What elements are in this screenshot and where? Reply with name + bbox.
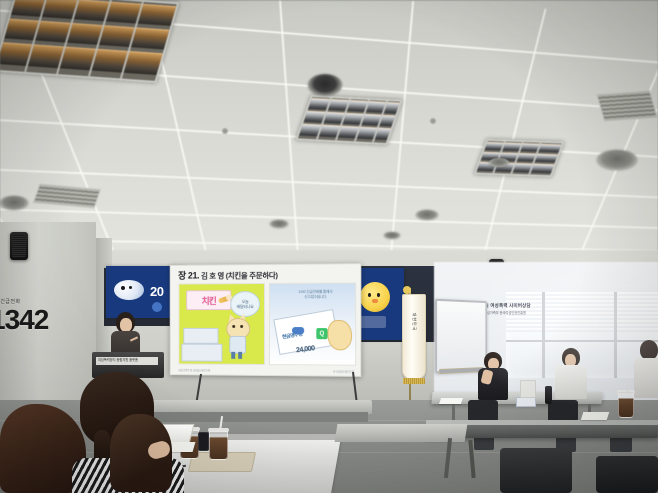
slide-title: 장 21. 김 호 영 (치킨을 주문하다) xyxy=(178,268,278,282)
slide-panel-left: 치킨 오늘배달되나요 xyxy=(178,283,265,365)
slide-caption: 1342 긴급전화를 통해서신고접수됩니다 xyxy=(284,290,347,300)
counter-shape xyxy=(181,344,222,362)
sign-number: 1342 xyxy=(0,306,48,334)
attendee-foreground-right xyxy=(110,414,180,493)
speech-bubble-text: 오늘배달되나요 xyxy=(237,299,254,309)
banner-left-text: 20 xyxy=(150,284,163,299)
attendee-body xyxy=(634,358,658,398)
air-vent xyxy=(596,90,658,121)
chair-foreground-far-right xyxy=(596,456,658,493)
louvered-light-fixture xyxy=(295,95,402,145)
chair xyxy=(468,400,498,422)
air-vent xyxy=(33,184,101,209)
iced-coffee-cup xyxy=(618,392,634,418)
recessed-downlight xyxy=(416,210,438,220)
tissue-box xyxy=(520,380,536,398)
recessed-downlight xyxy=(308,74,342,96)
recessed-downlight xyxy=(489,158,509,167)
attendee-seated-white-top xyxy=(554,348,590,406)
price-text: 24,000 xyxy=(296,345,315,354)
recessed-downlight xyxy=(384,232,400,239)
paper-handout xyxy=(439,398,463,404)
flag-fringe xyxy=(403,378,425,384)
counter-shape xyxy=(183,328,218,344)
recessed-downlight xyxy=(597,150,637,170)
attendee-head xyxy=(640,340,658,360)
podium-label-text: 여성폭력방지 종합지원 플랫폼 xyxy=(98,357,158,362)
recessed-downlight xyxy=(270,220,288,228)
qr-badge-icon: Q xyxy=(316,328,327,339)
slide-panel-right: 1342 긴급전화를 통해서신고접수됩니다 현금영수증 Q 24,000 xyxy=(269,282,356,365)
sprinkler-head xyxy=(222,128,228,134)
paper-handout xyxy=(581,412,610,420)
slide-footer-left: 여성가족부 한국여성인권진흥원 xyxy=(178,368,210,372)
projection-screen: 장 21. 김 호 영 (치킨을 주문하다) 치킨 오늘배달되나요 xyxy=(170,263,362,377)
flag-label: 대한민국 xyxy=(411,312,417,331)
presenter-face xyxy=(120,318,132,332)
flag-finial xyxy=(403,286,411,294)
recessed-downlight xyxy=(0,196,28,210)
fish-mascot-icon xyxy=(114,280,144,300)
chicken-sign-text: 치킨 xyxy=(202,294,216,307)
sprinkler-head xyxy=(430,118,436,124)
water-bottle xyxy=(545,386,552,404)
slide-title-number: 장 21. xyxy=(178,271,199,281)
chair xyxy=(548,400,578,422)
hand-illustration xyxy=(328,320,353,350)
louvered-light-fixture xyxy=(0,0,179,83)
attendee-body xyxy=(555,365,587,399)
chick-mascot-icon xyxy=(360,282,390,312)
smartphone xyxy=(198,432,209,451)
name-card-holder xyxy=(516,397,536,407)
attendee-seated-edge xyxy=(636,340,658,404)
slide-title-text: 김 호 영 (치킨을 주문하다) xyxy=(201,271,278,281)
wall-speaker-left xyxy=(10,232,28,260)
fox-character xyxy=(225,314,259,362)
window-mullion xyxy=(614,292,617,378)
emergency-number-sign: 여성긴급전화 1342 xyxy=(0,300,48,334)
ceremonial-flag: 대한민국 xyxy=(402,294,426,380)
seminar-room-photo: 여성긴급전화 1342 20 범죄 장 21. 김 호 영 (치킨을 주문하다) xyxy=(0,0,658,493)
iced-coffee-cup xyxy=(209,430,228,460)
louvered-light-fixture xyxy=(474,139,565,177)
qr-badge-label: Q xyxy=(320,331,325,337)
chair-foreground-right xyxy=(500,448,572,493)
